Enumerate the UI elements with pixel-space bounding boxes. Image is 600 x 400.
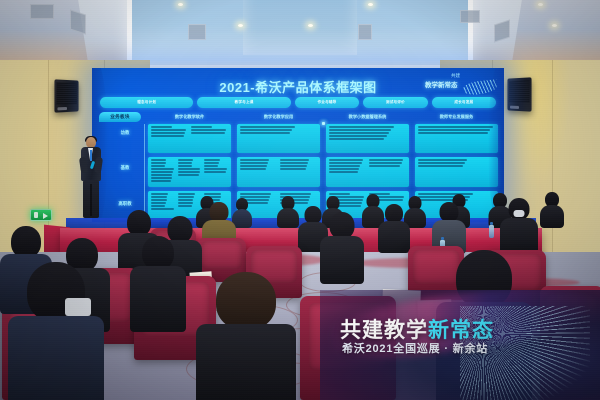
attendee-head [330,212,355,239]
attendee-head [210,202,229,222]
attendee [500,198,538,254]
attendee-foreground [196,272,296,400]
attendee-torso [277,208,299,228]
face-mask [514,210,525,217]
watermark-subtitle: 希沃2021全国巡展 · 新余站 [342,340,488,356]
attendee [378,204,410,250]
attendee-torso [8,316,104,400]
attendee-head [216,272,276,330]
chair-cushion [201,241,242,269]
attendee-torso [320,236,364,284]
water-bottle [489,225,494,238]
attendee [130,236,186,330]
watermark-title-plain: 共建教学 [340,319,428,342]
watermark-title-accent: 新常态 [428,319,494,342]
attendee [432,202,466,252]
attendee-head [440,202,459,222]
attendee-torso [196,324,296,400]
attendee-foreground [8,262,104,400]
attendee-torso [540,205,564,228]
conference-photo: 2021-希沃产品体系框架图 共建 教学新常态 理念与计划 教学与上课 作业与辅… [0,0,600,400]
attendee-head [142,236,174,270]
attendee [277,196,299,226]
attendee-torso [130,266,186,332]
attendee-torso [378,221,410,253]
attendee [320,212,364,280]
event-watermark: 共建教学新常态 希沃2021全国巡展 · 新余站 [320,290,600,400]
attendee [540,192,564,226]
face-mask [65,298,91,316]
